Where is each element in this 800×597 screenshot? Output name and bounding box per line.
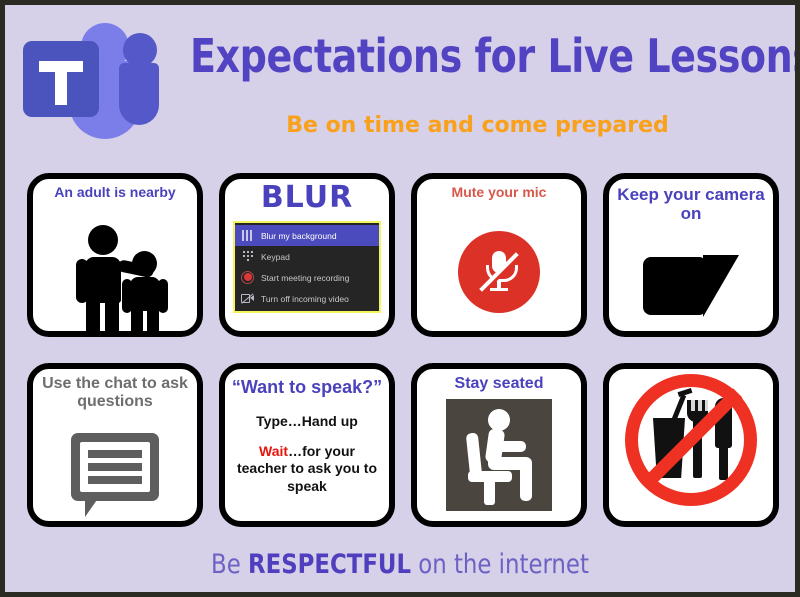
page-title: Expectations for Live Lessons bbox=[190, 31, 765, 81]
teams-logo-person-small-body bbox=[119, 63, 159, 125]
menu-item-keypad[interactable]: Keypad bbox=[235, 246, 379, 267]
card-adult-nearby: An adult is nearby bbox=[27, 173, 203, 337]
card-no-food-or-drink bbox=[603, 363, 779, 527]
card-mute-mic: Mute your mic bbox=[411, 173, 587, 337]
microsoft-teams-logo bbox=[19, 19, 159, 137]
poster-footer: Be RESPECTFUL on the internet bbox=[29, 549, 772, 580]
card-use-chat: Use the chat to ask questions bbox=[27, 363, 203, 527]
menu-item-label: Start meeting recording bbox=[261, 273, 349, 283]
card-row-1: An adult is nearby BLUR bbox=[27, 173, 779, 337]
card-camera-on: Keep your camera on bbox=[603, 173, 779, 337]
menu-item-label: Blur my background bbox=[261, 231, 337, 241]
page-subtitle: Be on time and come prepared bbox=[165, 113, 790, 138]
teams-more-options-menu-icon: Blur my background Keypad bbox=[233, 221, 381, 313]
menu-item-label: Keypad bbox=[261, 252, 290, 262]
speak-line-2: Wait…for your teacher to ask you to spea… bbox=[233, 443, 381, 496]
speak-line-1: Type…Hand up bbox=[233, 413, 381, 431]
card-title: BLUR bbox=[225, 179, 389, 215]
wait-rest: …for your teacher to ask you to speak bbox=[237, 443, 377, 494]
poster-canvas: Expectations for Live Lessons Be on time… bbox=[0, 0, 800, 597]
footer-emphasis: RESPECTFUL bbox=[248, 549, 411, 580]
card-title: Stay seated bbox=[417, 369, 581, 393]
card-title: Mute your mic bbox=[417, 179, 581, 201]
footer-after: on the internet bbox=[411, 549, 589, 580]
keypad-icon bbox=[240, 250, 256, 264]
card-want-to-speak: “Want to speak?” Type…Hand up Wait…for y… bbox=[219, 363, 395, 527]
video-off-icon bbox=[240, 292, 256, 306]
card-stay-seated: Stay seated bbox=[411, 363, 587, 527]
card-title: Use the chat to ask questions bbox=[33, 369, 197, 411]
menu-item-turn-off-incoming-video[interactable]: Turn off incoming video bbox=[235, 288, 379, 309]
wait-emphasis: Wait bbox=[259, 443, 288, 459]
card-title: Keep your camera on bbox=[609, 179, 773, 223]
expectations-card-grid: An adult is nearby BLUR bbox=[27, 173, 779, 527]
record-dot-icon bbox=[240, 271, 256, 285]
teams-logo-square bbox=[23, 41, 99, 117]
card-title: “Want to speak?” bbox=[225, 369, 389, 397]
teams-logo-person-small-head bbox=[123, 33, 157, 67]
menu-item-label: Turn off incoming video bbox=[261, 294, 349, 304]
menu-item-start-meeting-recording[interactable]: Start meeting recording bbox=[235, 267, 379, 288]
card-row-2: Use the chat to ask questions “Want to s… bbox=[27, 363, 779, 527]
menu-item-blur-my-background[interactable]: Blur my background bbox=[235, 225, 379, 246]
card-blur-background: BLUR Blur my background bbox=[219, 173, 395, 337]
footer-before: Be bbox=[211, 549, 248, 580]
poster-header: Expectations for Live Lessons Be on time… bbox=[5, 5, 795, 157]
want-to-speak-instructions: Type…Hand up Wait…for your teacher to as… bbox=[225, 397, 389, 495]
card-title: An adult is nearby bbox=[33, 179, 197, 201]
teams-logo-letter-t-stem bbox=[55, 61, 67, 105]
blur-icon bbox=[240, 229, 256, 243]
